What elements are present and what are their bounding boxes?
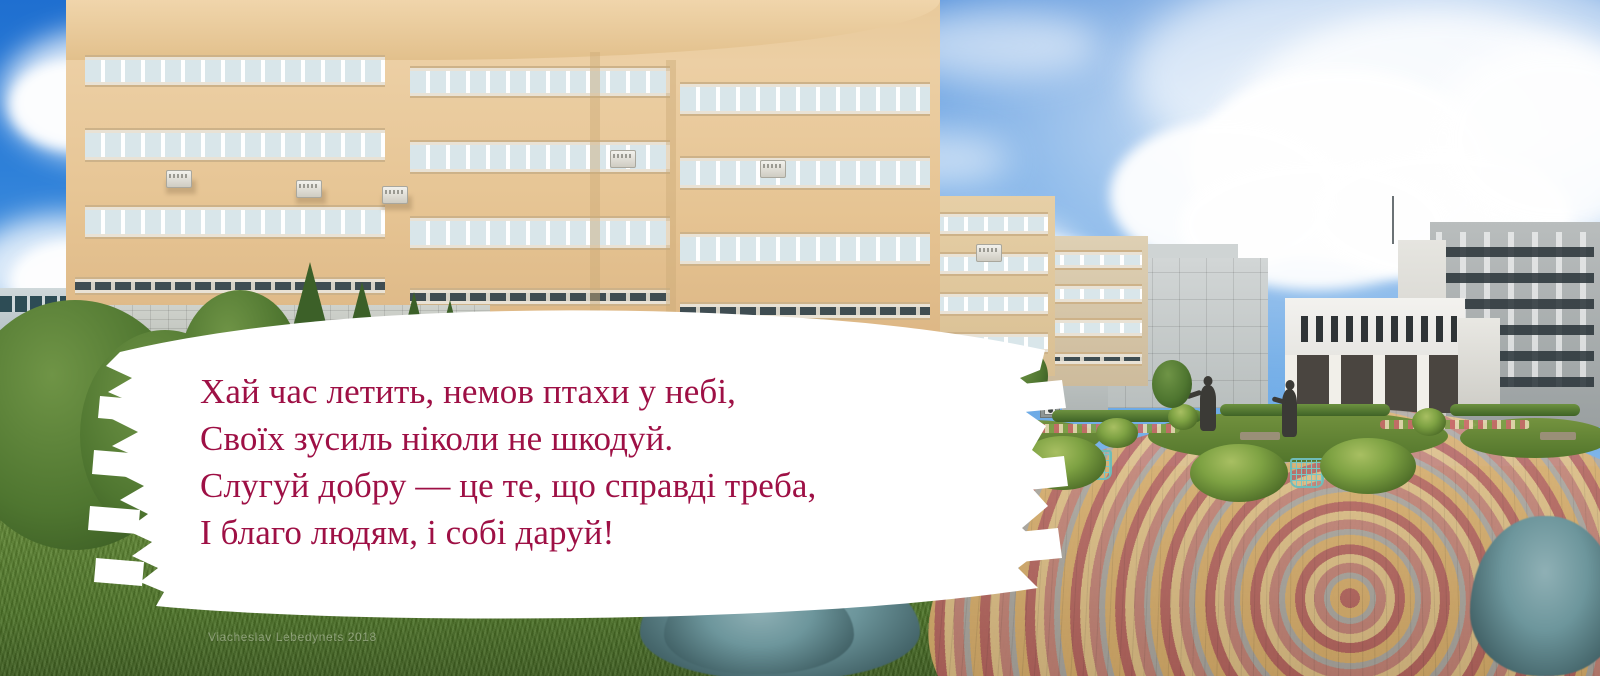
poem-line-4: І благо людям, і собі даруй!	[200, 509, 960, 556]
bush	[1096, 418, 1138, 448]
planter-basket	[1290, 458, 1324, 488]
air-conditioner	[166, 170, 192, 188]
poem-line-2: Своїх зусиль ніколи не шкодуй.	[200, 415, 960, 462]
facade-pilaster	[590, 52, 600, 322]
poem-text: Хай час летить, немов птахи у небі, Свої…	[200, 368, 960, 556]
window-band	[1293, 316, 1457, 342]
bench	[1240, 432, 1280, 440]
bench	[1540, 432, 1576, 440]
statue-left	[1200, 385, 1216, 431]
air-conditioner	[296, 180, 322, 198]
air-conditioner	[610, 150, 636, 168]
bush	[1190, 444, 1288, 502]
window-band	[85, 128, 385, 162]
flower-bed	[1380, 420, 1530, 429]
window-band	[680, 82, 930, 116]
statue-right	[1282, 389, 1297, 437]
campus-banner-image: Хай час летить, немов птахи у небі, Свої…	[0, 0, 1600, 676]
window-band	[85, 205, 385, 239]
roof-parapet	[60, 0, 940, 60]
hedge	[1450, 404, 1580, 416]
air-conditioner	[382, 186, 408, 204]
bush	[1320, 438, 1416, 494]
building-white-colonnade-entrance	[1285, 298, 1465, 413]
hedge	[1220, 404, 1390, 416]
building-main-curved	[0, 0, 940, 350]
antenna-mast	[1392, 196, 1394, 244]
window-band	[680, 232, 930, 266]
window-band	[410, 216, 670, 250]
facade-pilaster	[666, 60, 676, 322]
building-colonnade-right-wing	[1458, 318, 1500, 414]
tree	[1152, 360, 1192, 408]
poem-line-3: Слугуй добру — це те, що справді треба,	[200, 462, 960, 509]
bush	[1412, 408, 1446, 436]
air-conditioner	[976, 244, 1002, 262]
window-band	[410, 66, 670, 98]
air-conditioner	[760, 160, 786, 178]
window-band	[85, 55, 385, 87]
poem-line-1: Хай час летить, немов птахи у небі,	[200, 368, 960, 415]
photo-credit-watermark: Viacheslav Lebedynets 2018	[208, 630, 377, 644]
window-band	[680, 156, 930, 190]
